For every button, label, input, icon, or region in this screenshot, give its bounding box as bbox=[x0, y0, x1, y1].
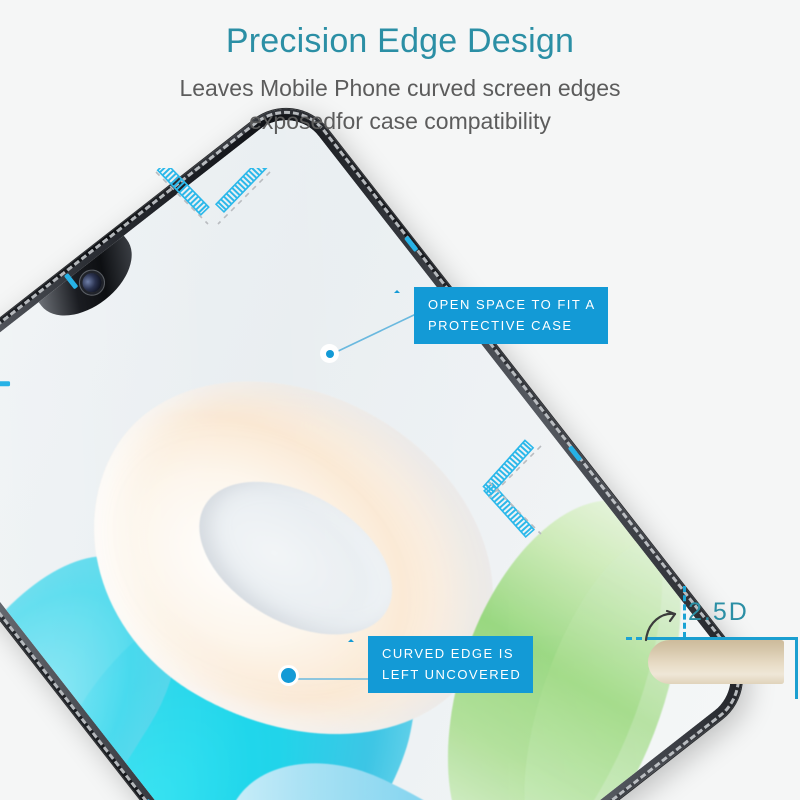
page-title: Precision Edge Design bbox=[0, 0, 800, 60]
subtitle-line-1: Leaves Mobile Phone curved screen edges bbox=[179, 75, 620, 101]
product-marketing-image: Precision Edge Design Leaves Mobile Phon… bbox=[0, 0, 800, 800]
leader-line-svg bbox=[330, 310, 422, 358]
callout-line-2: PROTECTIVE CASE bbox=[428, 315, 596, 336]
screen-glare bbox=[0, 103, 748, 800]
page-subtitle: Leaves Mobile Phone curved screen edges … bbox=[0, 60, 800, 137]
diagram-right-line bbox=[795, 637, 798, 699]
callout-anchor-dot-case bbox=[322, 346, 337, 361]
edge-curvature-diagram: 2.5D bbox=[640, 588, 800, 706]
header: Precision Edge Design Leaves Mobile Phon… bbox=[0, 0, 800, 138]
callout-open-space: OPEN SPACE TO FIT A PROTECTIVE CASE bbox=[414, 287, 608, 344]
callout-line-2: LEFT UNCOVERED bbox=[382, 664, 521, 685]
ruler-cross-marker-top bbox=[148, 168, 278, 253]
ruler-cross-svg bbox=[455, 436, 565, 546]
callout-line-1: OPEN SPACE TO FIT A bbox=[428, 294, 596, 315]
subtitle-line-2: exposedfor case compatibility bbox=[0, 105, 800, 138]
callout-line-1: CURVED EDGE IS bbox=[382, 643, 521, 664]
diagram-label: 2.5D bbox=[688, 598, 749, 627]
wallpaper bbox=[0, 103, 748, 800]
edge-tick-mark bbox=[0, 381, 10, 386]
glass-cross-section bbox=[648, 640, 784, 684]
callout-curved-edge: CURVED EDGE IS LEFT UNCOVERED bbox=[368, 636, 533, 693]
callout-anchor-dot-edge bbox=[281, 668, 296, 683]
ruler-cross-marker-bottom bbox=[455, 436, 565, 551]
callout-leader-line-case bbox=[330, 310, 422, 363]
ruler-cross-svg bbox=[148, 168, 278, 248]
phone-screen bbox=[0, 103, 748, 800]
diagram-top-line bbox=[648, 637, 798, 640]
